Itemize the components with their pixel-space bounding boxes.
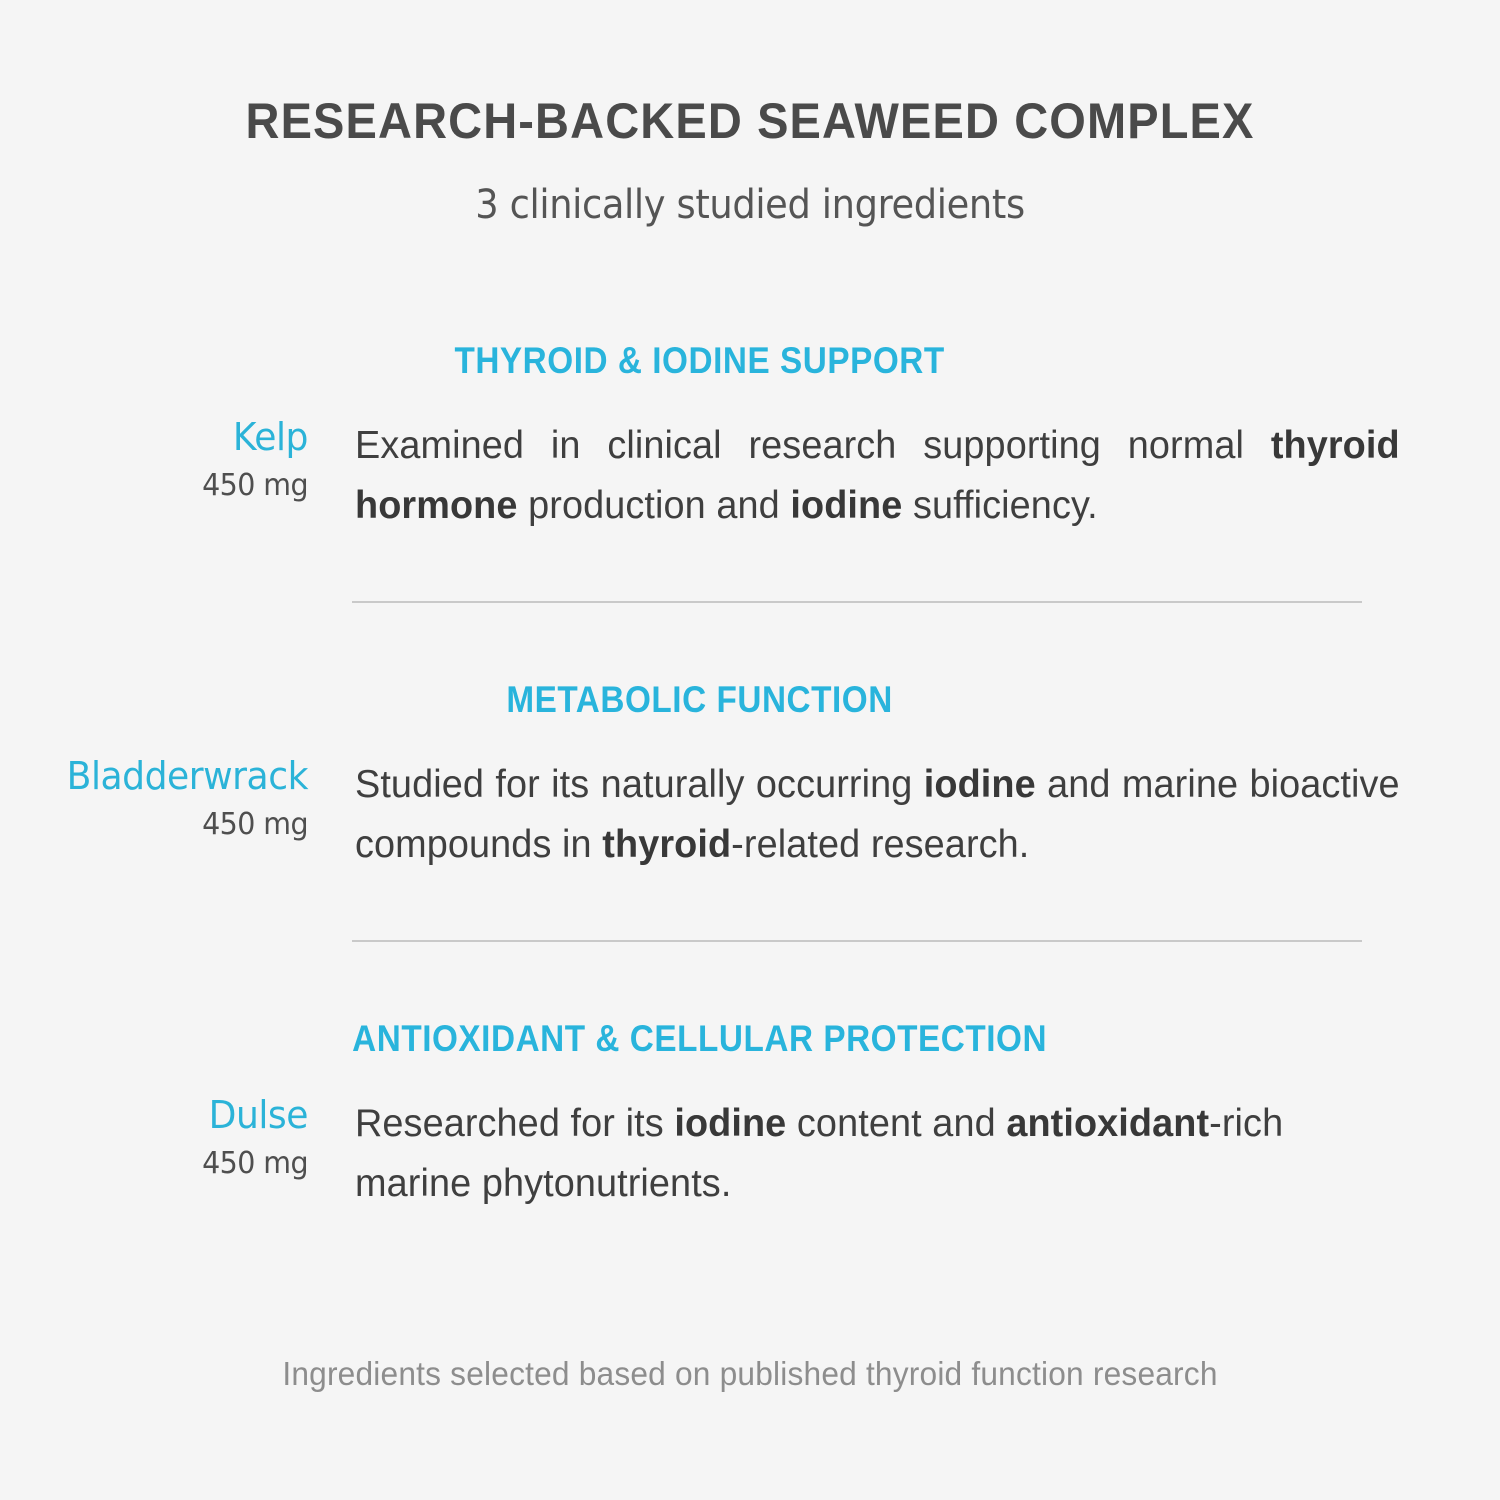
footer: Ingredients selected based on published … xyxy=(0,1355,1500,1393)
spacer xyxy=(0,537,1500,601)
spacer xyxy=(0,942,1500,1018)
spacer xyxy=(0,876,1500,940)
section-heading: METABOLIC FUNCTION xyxy=(75,679,1425,721)
ingredient-description-column: Researched for its iodine content and an… xyxy=(308,1094,1500,1215)
section-body: Bladderwrack 450 mg Studied for its natu… xyxy=(0,755,1500,876)
ingredient-name: Dulse xyxy=(15,1096,308,1136)
ingredient-description-column: Examined in clinical research supporting… xyxy=(308,416,1500,537)
ingredient-label-column: Dulse 450 mg xyxy=(0,1094,308,1182)
ingredient-name: Bladderwrack xyxy=(15,757,308,797)
ingredient-infographic: RESEARCH-BACKED SEAWEED COMPLEX 3 clinic… xyxy=(0,0,1500,1500)
section-thyroid-iodine-support: THYROID & IODINE SUPPORT Kelp 450 mg Exa… xyxy=(0,340,1500,537)
section-metabolic-function: METABOLIC FUNCTION Bladderwrack 450 mg S… xyxy=(0,679,1500,876)
page-title: RESEARCH-BACKED SEAWEED COMPLEX xyxy=(45,92,1455,150)
section-heading: ANTIOXIDANT & CELLULAR PROTECTION xyxy=(75,1018,1425,1060)
ingredient-label-column: Kelp 450 mg xyxy=(0,416,308,504)
header: RESEARCH-BACKED SEAWEED COMPLEX 3 clinic… xyxy=(0,0,1500,228)
section-antioxidant-cellular-protection: ANTIOXIDANT & CELLULAR PROTECTION Dulse … xyxy=(0,1018,1500,1215)
ingredient-dose: 450 mg xyxy=(15,807,308,843)
section-body: Dulse 450 mg Researched for its iodine c… xyxy=(0,1094,1500,1215)
ingredient-description: Examined in clinical research supporting… xyxy=(355,416,1400,537)
section-heading: THYROID & IODINE SUPPORT xyxy=(75,340,1425,382)
ingredient-description-column: Studied for its naturally occurring iodi… xyxy=(308,755,1500,876)
spacer xyxy=(0,603,1500,679)
page-subtitle: 3 clinically studied ingredients xyxy=(60,182,1440,228)
sections-list: THYROID & IODINE SUPPORT Kelp 450 mg Exa… xyxy=(0,340,1500,1215)
ingredient-name: Kelp xyxy=(15,418,308,458)
footer-note: Ingredients selected based on published … xyxy=(30,1355,1470,1393)
ingredient-dose: 450 mg xyxy=(15,468,308,504)
ingredient-description: Researched for its iodine content and an… xyxy=(355,1094,1400,1215)
section-body: Kelp 450 mg Examined in clinical researc… xyxy=(0,416,1500,537)
ingredient-description: Studied for its naturally occurring iodi… xyxy=(355,755,1400,876)
ingredient-dose: 450 mg xyxy=(15,1146,308,1182)
ingredient-label-column: Bladderwrack 450 mg xyxy=(0,755,308,843)
